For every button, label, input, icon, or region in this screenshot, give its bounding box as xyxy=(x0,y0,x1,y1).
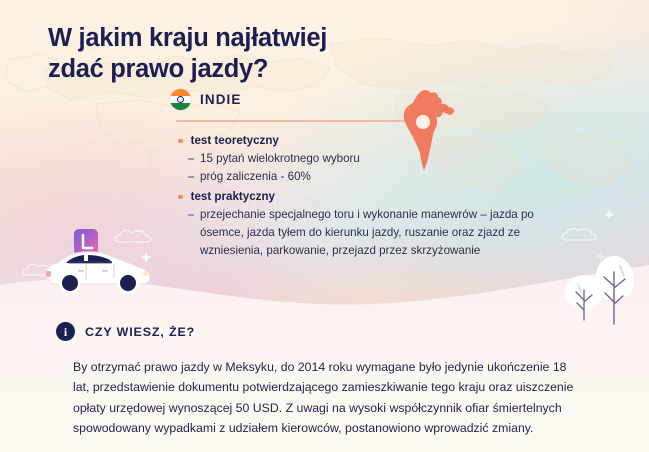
fact-heading: test teoretyczny xyxy=(178,132,578,150)
did-you-know-body: By otrzymać prawo jazdy w Meksyku, do 20… xyxy=(73,357,585,439)
country-header: INDIE xyxy=(170,89,242,110)
fact-group-theory: test teoretyczny 15 pytań wielokrotnego … xyxy=(178,132,578,186)
page-title-line-2: zdać prawo jazdy? xyxy=(48,54,448,85)
fact-group-practical: test praktyczny przejechanie specjalnego… xyxy=(178,188,578,260)
india-flag-icon xyxy=(170,89,191,110)
page-title-line-1: W jakim kraju najłatwiej xyxy=(48,23,448,54)
dash-bullet-icon xyxy=(188,214,194,215)
flag-band-green xyxy=(170,103,191,110)
trees-illustration xyxy=(562,248,638,328)
fact-sub-item: próg zaliczenia - 60% xyxy=(188,168,578,186)
fact-heading-label: test praktyczny xyxy=(191,188,275,206)
fact-sub-item: 15 pytań wielokrotnego wyboru xyxy=(188,150,578,168)
bullet-dot-icon xyxy=(178,139,183,144)
learner-car-illustration xyxy=(42,228,160,300)
did-you-know-header: i CZY WIESZ, ŻE? xyxy=(56,322,195,341)
fact-sub-item: przejechanie specjalnego toru i wykonani… xyxy=(188,206,578,260)
flag-band-saffron xyxy=(170,89,191,96)
info-icon: i xyxy=(56,322,75,341)
page-title: W jakim kraju najłatwiej zdać prawo jazd… xyxy=(48,23,448,85)
fact-sub-item-text: 15 pytań wielokrotnego wyboru xyxy=(200,150,578,168)
infographic-canvas: W jakim kraju najłatwiej zdać prawo jazd… xyxy=(0,0,649,452)
dash-bullet-icon xyxy=(188,158,194,159)
fact-sub-item-text: próg zaliczenia - 60% xyxy=(200,168,578,186)
country-name: INDIE xyxy=(200,92,242,107)
requirements-list: test teoretyczny 15 pytań wielokrotnego … xyxy=(178,132,578,262)
sparkle-icon xyxy=(604,208,615,226)
fact-heading: test praktyczny xyxy=(178,188,578,206)
ashoka-chakra-icon xyxy=(177,96,184,103)
did-you-know-title: CZY WIESZ, ŻE? xyxy=(85,325,195,339)
bullet-dot-icon xyxy=(178,195,183,200)
did-you-know-paragraph: By otrzymać prawo jazdy w Meksyku, do 20… xyxy=(73,357,585,439)
dash-bullet-icon xyxy=(188,176,194,177)
fact-sub-item-text: przejechanie specjalnego toru i wykonani… xyxy=(200,206,578,260)
country-divider-line xyxy=(176,120,432,122)
india-map-shape xyxy=(398,88,460,172)
fact-heading-label: test teoretyczny xyxy=(191,132,279,150)
